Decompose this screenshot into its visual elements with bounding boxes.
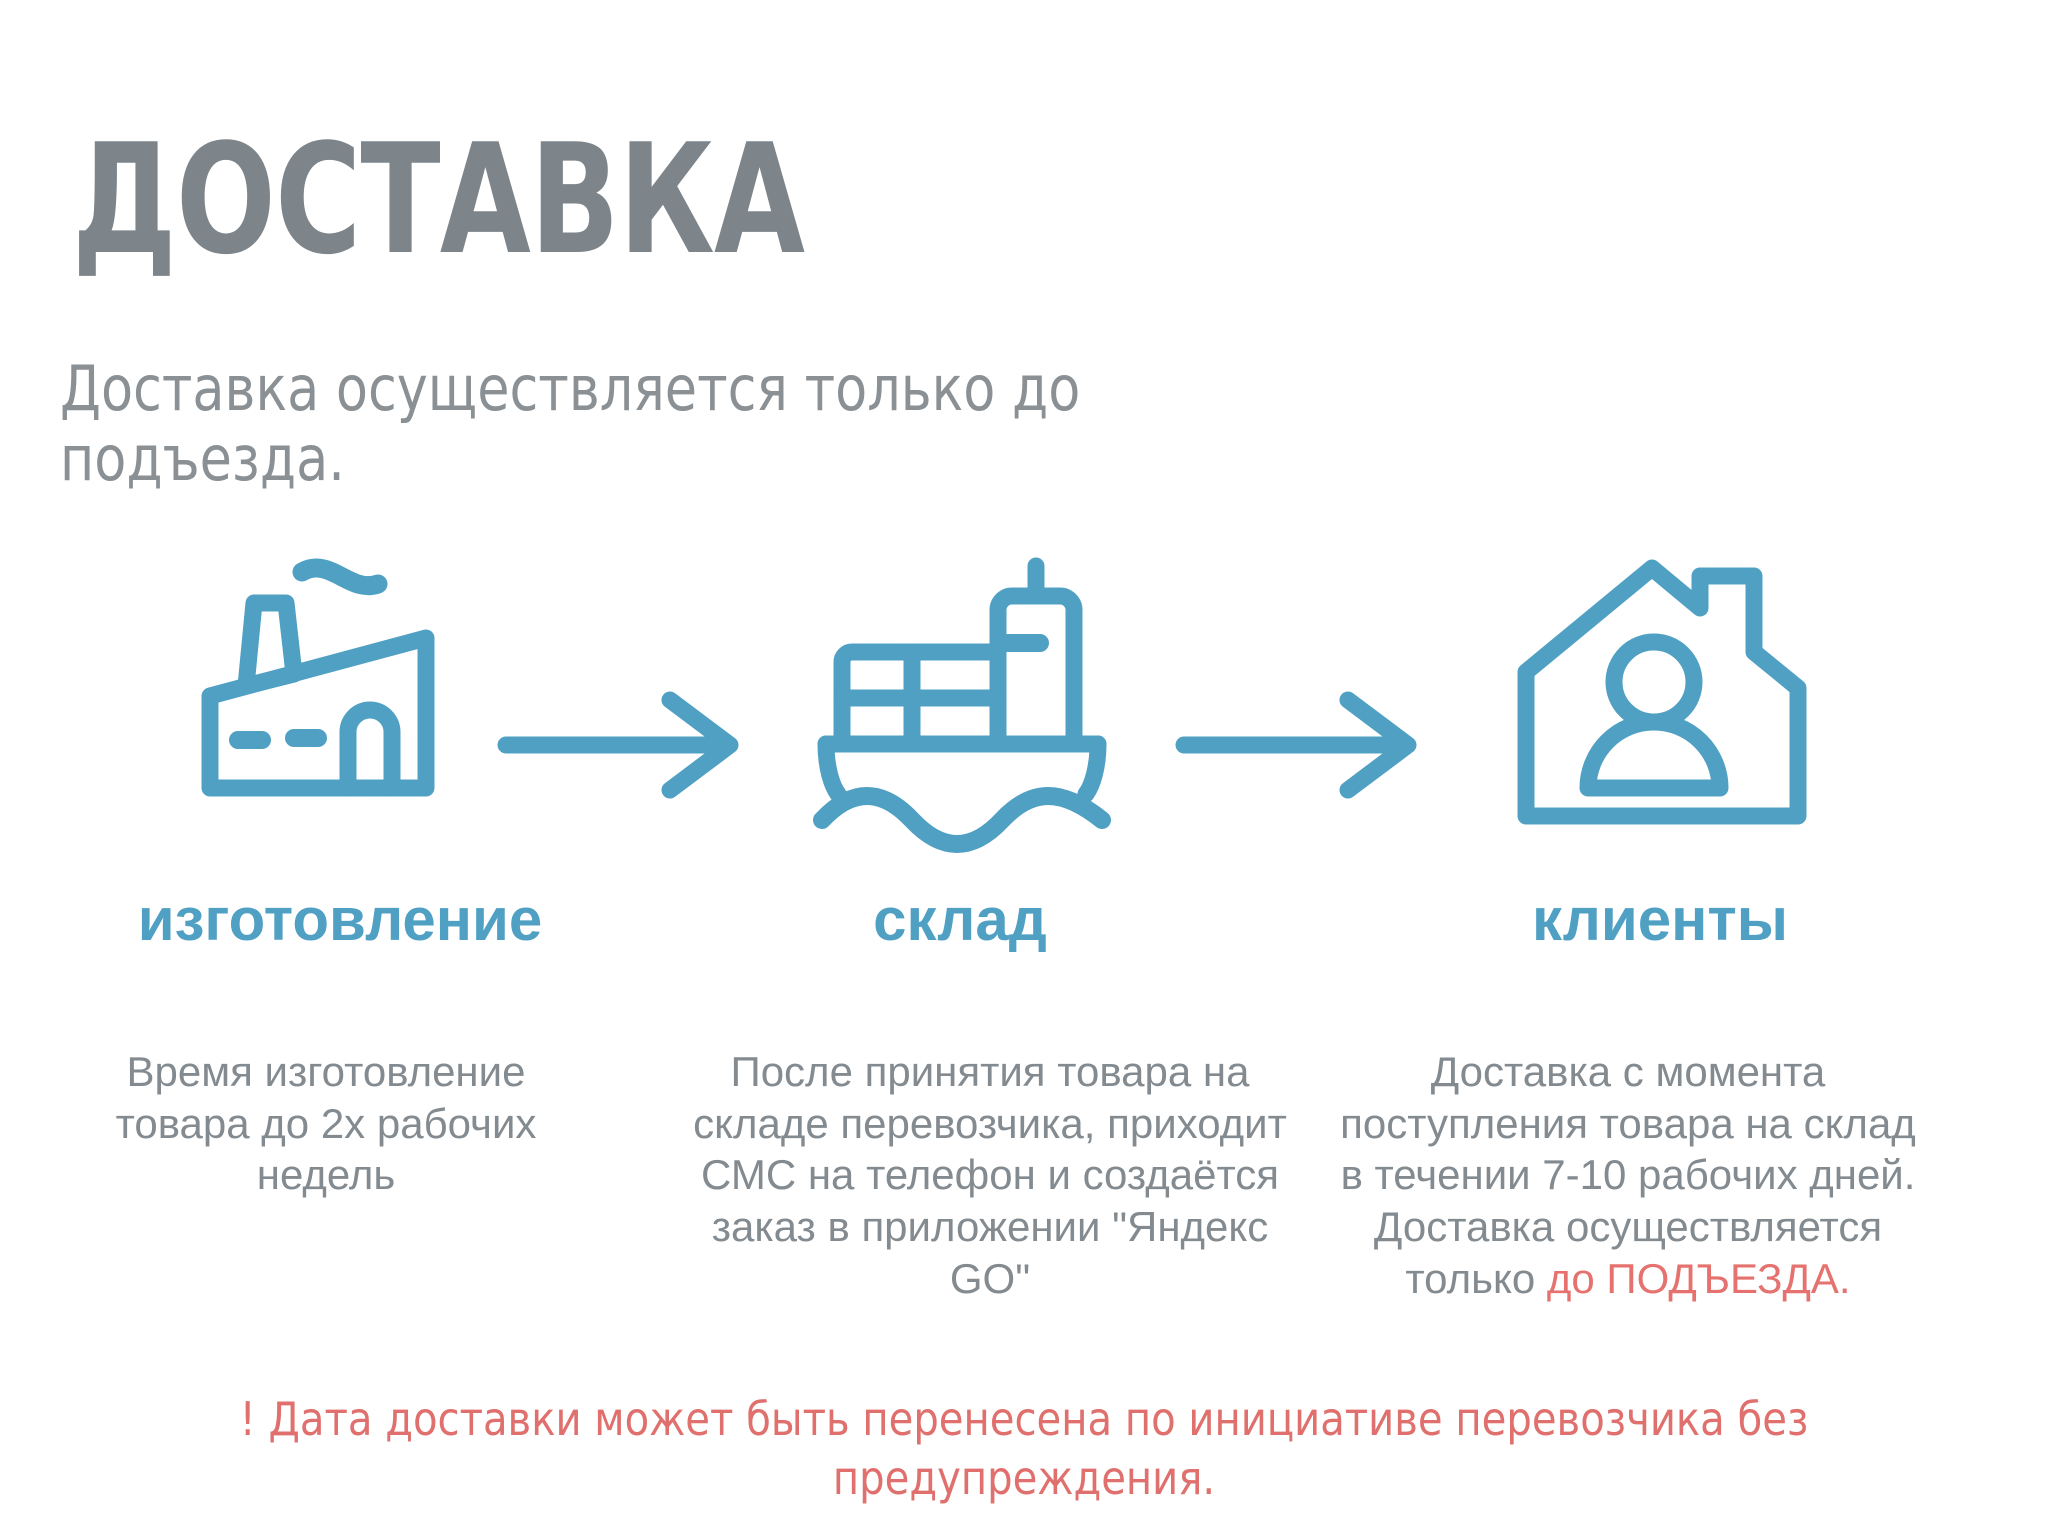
arrow-right-icon — [1178, 690, 1438, 800]
factory-icon — [190, 548, 490, 848]
page-title: ДОСТАВКА — [72, 120, 804, 280]
arrow-right-icon-graphic — [500, 690, 760, 800]
page-subtitle: Доставка осуществляется только до подъез… — [60, 354, 1282, 494]
step-description-manufacturing: Время изготовление товара до 2х рабочих … — [76, 1046, 576, 1201]
delivery-infographic-slide: ДОСТАВКА Доставка осуществляется только … — [0, 0, 2048, 1536]
house-with-person-icon-graphic — [1512, 548, 1812, 848]
step-description-warehouse: После принятия товара на складе перевозч… — [690, 1046, 1290, 1304]
step-label-warehouse: склад — [680, 890, 1240, 950]
arrow-right-icon-graphic — [1178, 690, 1438, 800]
step-description-clients: Доставка с момента поступления товара на… — [1338, 1046, 1918, 1304]
arrow-right-icon — [500, 690, 760, 800]
house-with-person-icon — [1512, 548, 1812, 848]
footnote-warning: ! Дата доставки может быть перенесена по… — [151, 1390, 1897, 1508]
factory-icon-graphic — [190, 548, 490, 848]
cargo-ship-icon-graphic — [812, 548, 1112, 848]
step-description-clients-accent: до ПОДЪЕЗДА. — [1547, 1255, 1851, 1302]
cargo-ship-icon — [812, 548, 1112, 848]
step-label-manufacturing: изготовление — [60, 890, 620, 950]
step-label-clients: клиенты — [1380, 890, 1940, 950]
